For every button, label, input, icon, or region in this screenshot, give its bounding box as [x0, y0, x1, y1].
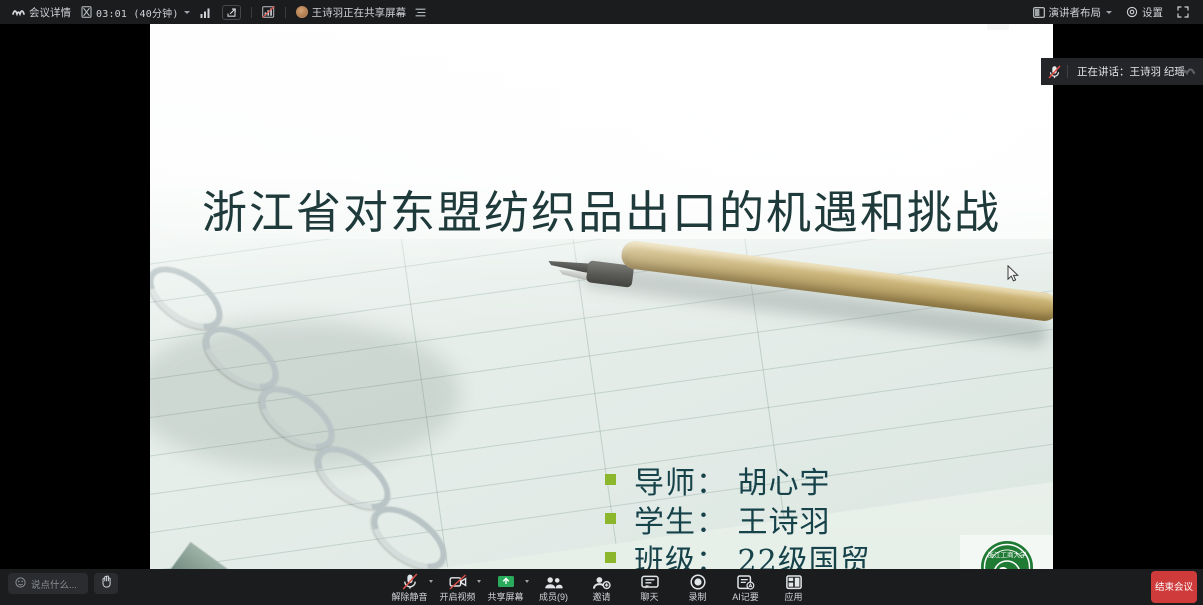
popout-window-button[interactable] — [217, 3, 246, 21]
main-controls: 解除静音 开启视频 — [0, 571, 1203, 604]
gear-icon — [1126, 6, 1138, 18]
more-menu-icon[interactable] — [415, 8, 426, 17]
speaker-layout-label: 演讲者布局 — [1049, 5, 1102, 20]
list-item: 导师： 胡心宇 — [605, 460, 871, 499]
fullscreen-icon — [1177, 6, 1189, 18]
invite-button[interactable]: 邀请 — [578, 571, 626, 604]
list-item: 班级： 22级国贸 — [605, 538, 871, 569]
bullet-text: 学生： 王诗羽 — [634, 497, 831, 541]
chevron-down-icon[interactable] — [477, 580, 481, 583]
university-emblem-icon: 浙江工商大学 — [960, 535, 1053, 569]
sharing-user-avatar — [296, 6, 308, 18]
network-signal-button[interactable] — [195, 3, 217, 21]
active-speaker-badge: 正在讲话：王诗羽 纪瑶 — [1041, 58, 1203, 85]
bullet-square-icon — [605, 474, 616, 485]
slide-title: 浙江省对东盟纺织品出口的机遇和挑战 — [150, 176, 1053, 241]
camera-off-icon — [449, 573, 467, 590]
ai-notes-icon — [737, 573, 755, 590]
settings-label: 设置 — [1142, 5, 1163, 20]
chevron-down-icon — [1106, 11, 1112, 14]
apps-button[interactable]: 应用 — [770, 571, 818, 604]
participants-icon — [544, 573, 563, 590]
layout-icon — [1033, 7, 1045, 18]
chat-label: 聊天 — [640, 592, 658, 602]
share-stats-button[interactable] — [257, 3, 280, 21]
hourglass-icon — [81, 6, 92, 18]
top-toolbar: 会议详情 03:01 (40分钟) — [0, 0, 1203, 24]
list-item: 学生： 王诗羽 — [605, 499, 871, 538]
meeting-detail-button[interactable]: 会议详情 — [7, 3, 76, 21]
chat-icon — [641, 573, 659, 590]
bottom-toolbar: 说点什么... 解除静音 — [0, 569, 1203, 605]
settings-button[interactable]: 设置 — [1121, 3, 1168, 21]
start-video-button[interactable]: 开启视频 — [434, 571, 482, 604]
record-button[interactable]: 录制 — [674, 571, 722, 604]
mouse-cursor — [1007, 265, 1019, 287]
apps-label: 应用 — [784, 592, 802, 602]
popout-window-icon — [222, 5, 241, 20]
ai-notes-button[interactable]: AI记要 — [722, 571, 770, 604]
slide-white-overlay — [150, 24, 1053, 569]
unmute-button[interactable]: 解除静音 — [386, 571, 434, 604]
record-icon — [690, 573, 706, 590]
chat-button[interactable]: 聊天 — [626, 571, 674, 604]
speaker-layout-button[interactable]: 演讲者布局 — [1028, 3, 1118, 21]
sharing-status[interactable]: 王诗羽正在共享屏幕 — [291, 3, 432, 21]
presentation-slide[interactable]: 浙江省对东盟纺织品出口的机遇和挑战 导师： 胡心宇 学生： 王诗羽 班级： 22… — [150, 24, 1053, 569]
leave-meeting-label: 结束会议 — [1155, 582, 1193, 593]
meeting-timer[interactable]: 03:01 (40分钟) — [76, 3, 195, 21]
participants-button[interactable]: 成员(9) — [530, 571, 578, 604]
record-label: 录制 — [688, 592, 706, 602]
share-screen-label: 共享屏幕 — [487, 592, 523, 602]
meeting-window: 会议详情 03:01 (40分钟) — [0, 0, 1203, 605]
unmute-label: 解除静音 — [391, 592, 427, 602]
divider — [251, 7, 252, 18]
share-screen-button[interactable]: 共享屏幕 — [482, 571, 530, 604]
chevron-down-icon — [184, 11, 190, 14]
meeting-logo-icon — [12, 7, 25, 18]
invite-icon — [593, 573, 611, 590]
share-stats-icon — [262, 6, 275, 18]
svg-text:浙江工商大学: 浙江工商大学 — [988, 550, 1028, 559]
bullet-text: 导师： 胡心宇 — [634, 458, 831, 502]
chevron-down-icon[interactable] — [429, 580, 433, 583]
sharing-user-label: 王诗羽正在共享屏幕 — [312, 5, 407, 20]
fullscreen-button[interactable] — [1172, 3, 1194, 21]
chevron-down-icon[interactable] — [525, 580, 529, 583]
bullet-square-icon — [605, 513, 616, 524]
participants-label: 成员(9) — [539, 592, 568, 602]
ai-notes-label: AI记要 — [732, 592, 759, 602]
mic-muted-icon — [1041, 65, 1067, 79]
leave-meeting-button[interactable]: 结束会议 — [1151, 571, 1197, 603]
timer-value: 03:01 (40分钟) — [96, 5, 179, 20]
mic-muted-icon — [402, 573, 418, 590]
meeting-detail-label: 会议详情 — [29, 5, 71, 20]
share-screen-icon — [497, 573, 515, 590]
start-video-label: 开启视频 — [439, 592, 475, 602]
network-signal-icon — [200, 7, 212, 18]
bullet-square-icon — [605, 552, 616, 563]
audio-wave-icon — [1175, 65, 1197, 79]
bullet-text: 班级： 22级国贸 — [634, 536, 871, 570]
divider — [285, 7, 286, 18]
shared-screen-stage: 浙江省对东盟纺织品出口的机遇和挑战 导师： 胡心宇 学生： 王诗羽 班级： 22… — [0, 24, 1203, 569]
slide-bullet-list: 导师： 胡心宇 学生： 王诗羽 班级： 22级国贸 — [605, 460, 871, 569]
active-speaker-label: 正在讲话：王诗羽 纪瑶 — [1068, 64, 1185, 79]
invite-label: 邀请 — [592, 592, 610, 602]
apps-icon — [786, 573, 802, 590]
